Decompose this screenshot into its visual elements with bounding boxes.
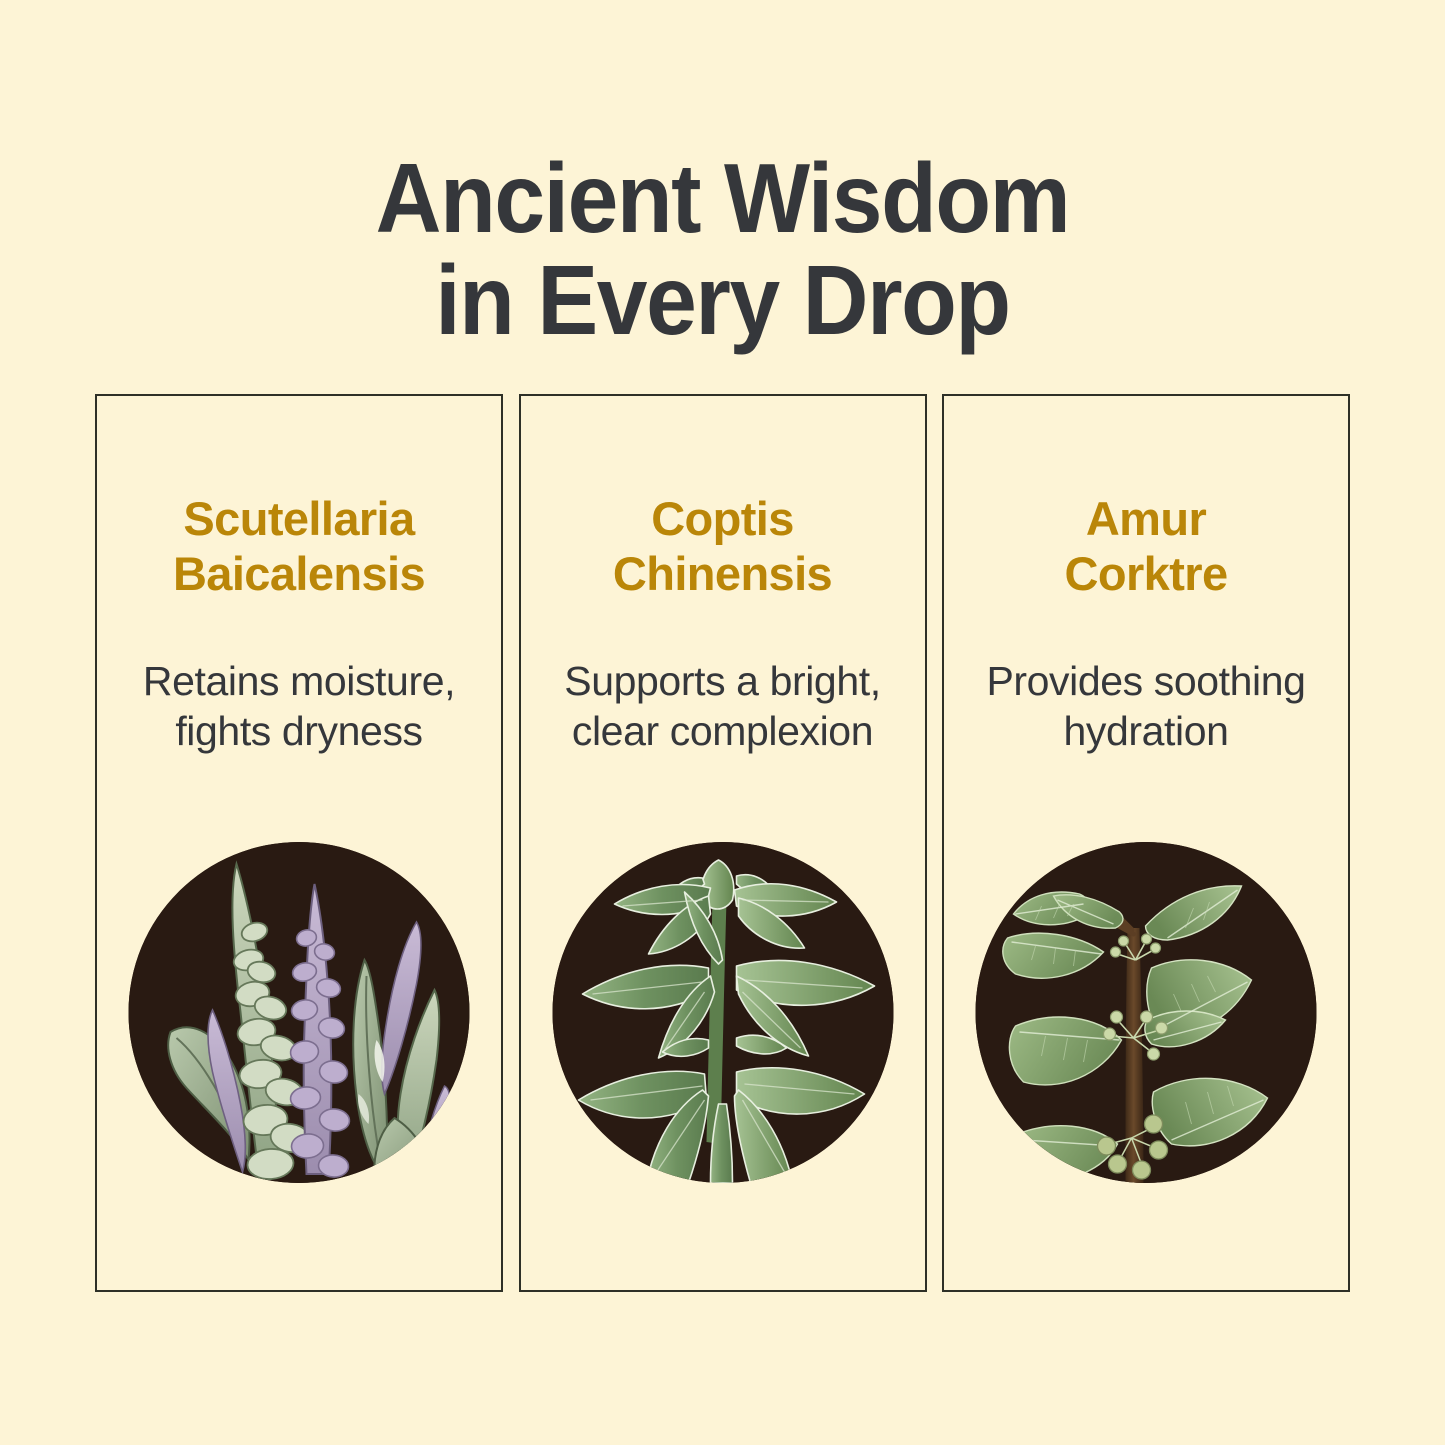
ingredient-benefit: Provides soothing hydration (976, 656, 1316, 756)
ingredient-name-line-2: Baicalensis (173, 547, 425, 600)
ingredient-name-line-1: Amur (1086, 492, 1206, 545)
ingredient-benefits-poster: Ancient Wisdom in Every Drop Scutellaria… (0, 0, 1445, 1445)
ingredient-name: Amur Corktre (981, 492, 1311, 602)
ingredient-benefit-line-1: Supports a bright, (564, 658, 880, 704)
page-title-line-2: in Every Drop (51, 250, 1395, 352)
ingredient-card-list: Scutellaria Baicalensis Retains moisture… (95, 394, 1350, 1292)
ingredient-benefit-line-1: Provides soothing (986, 658, 1305, 704)
ingredient-benefit-line-2: hydration (1063, 708, 1228, 754)
ingredient-benefit-line-1: Retains moisture, (143, 658, 455, 704)
ingredient-name: Scutellaria Baicalensis (134, 492, 464, 602)
ingredient-card-amur-corktre[interactable]: Amur Corktre Provides soothing hydration (942, 394, 1350, 1292)
ingredient-benefit: Supports a bright, clear complexion (553, 656, 893, 756)
coptis-chinensis-illustration (552, 842, 893, 1183)
ingredient-name: Coptis Chinensis (558, 492, 888, 602)
page-title-line-1: Ancient Wisdom (51, 148, 1395, 250)
ingredient-card-coptis-chinensis[interactable]: Coptis Chinensis Supports a bright, clea… (519, 394, 927, 1292)
ingredient-benefit: Retains moisture, fights dryness (129, 656, 469, 756)
ingredient-name-line-1: Coptis (651, 492, 794, 545)
ingredient-benefit-line-2: clear complexion (572, 708, 873, 754)
scutellaria-baicalensis-illustration (129, 842, 470, 1183)
page-title: Ancient Wisdom in Every Drop (0, 148, 1445, 352)
ingredient-name-line-2: Corktre (1065, 547, 1228, 600)
ingredient-benefit-line-2: fights dryness (175, 708, 422, 754)
ingredient-name-line-1: Scutellaria (183, 492, 414, 545)
amur-corktree-illustration (976, 842, 1317, 1183)
ingredient-name-line-2: Chinensis (613, 547, 832, 600)
ingredient-card-scutellaria-baicalensis[interactable]: Scutellaria Baicalensis Retains moisture… (95, 394, 503, 1292)
